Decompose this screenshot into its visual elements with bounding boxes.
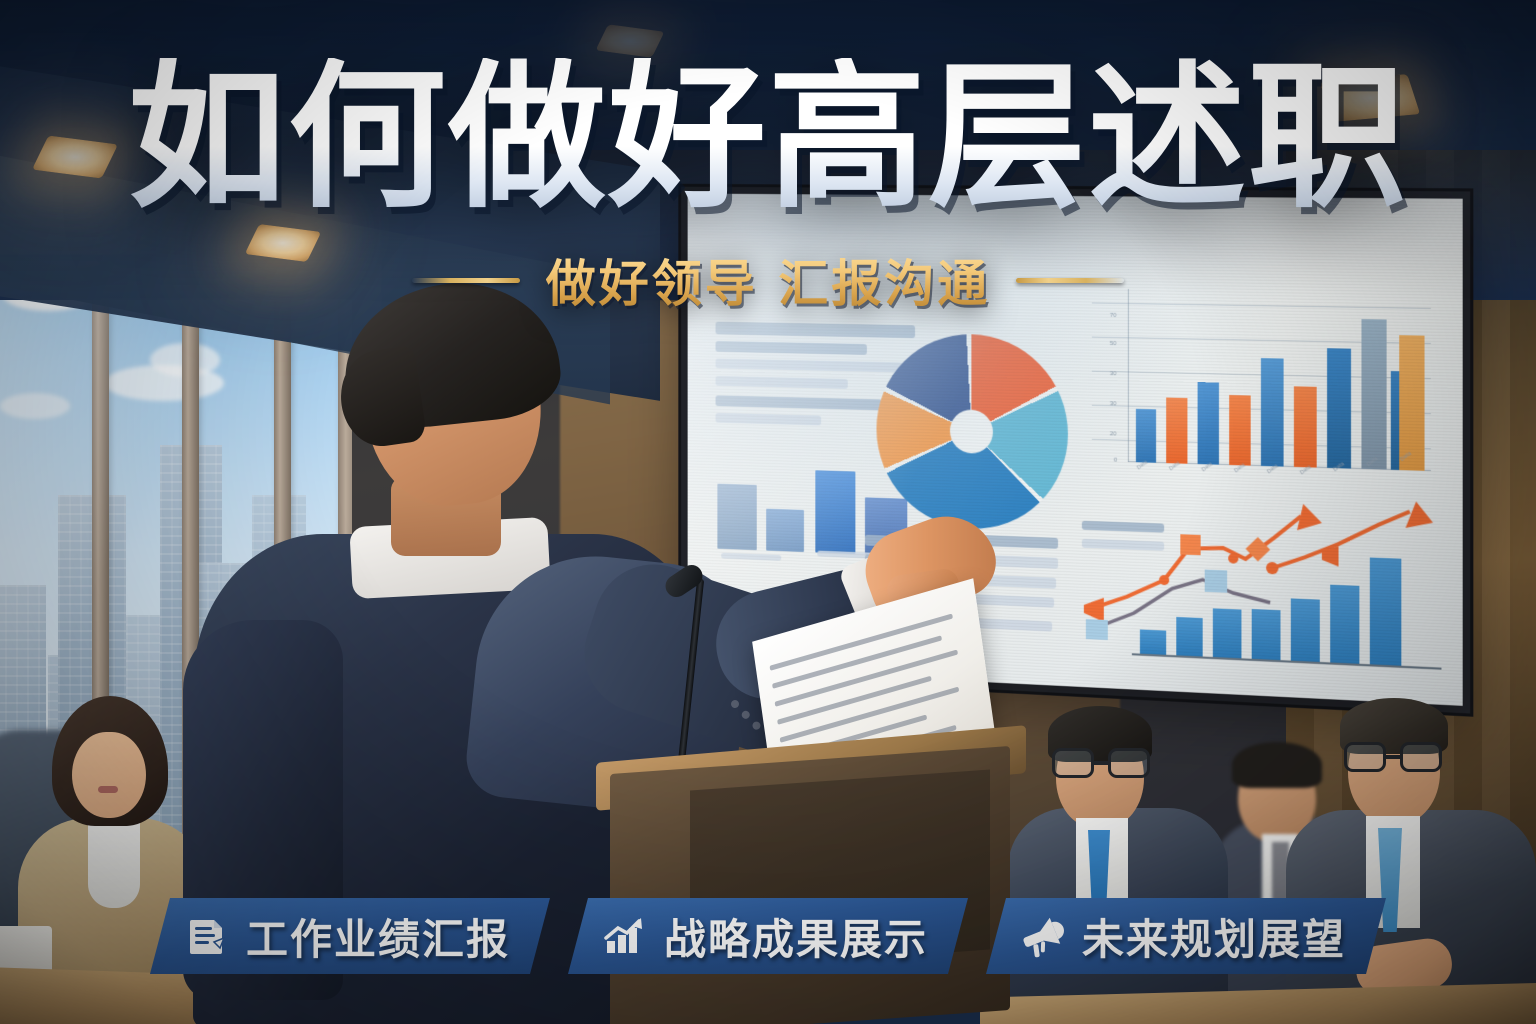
document-list-icon [184, 914, 228, 958]
data-point [1266, 562, 1278, 575]
bar [1327, 348, 1351, 468]
page-title: 如何做好高层述职 [128, 58, 1408, 219]
bar [1229, 395, 1250, 466]
poster-canvas: 0 20 30 30 50 70 Data Data Data Data Dat… [0, 0, 1536, 1024]
bar [1294, 386, 1317, 467]
bar [1399, 335, 1424, 471]
trend-lines-overlay [1072, 486, 1452, 684]
glasses-icon [1052, 748, 1156, 782]
title-area: 如何做好高层述职 [0, 58, 1536, 219]
y-tick-label: 30 [1110, 401, 1117, 407]
badge-row: 工作业绩汇报 战略成果展示 [0, 898, 1536, 974]
arrow-head-icon [1406, 501, 1433, 529]
page-subtitle: 做好领导 汇报沟通 [546, 244, 990, 316]
screen-pie-chart [876, 332, 1067, 532]
data-marker [1205, 570, 1227, 593]
glasses-icon [1344, 742, 1448, 776]
plot-area [1128, 289, 1431, 471]
bar [1361, 319, 1386, 470]
badge-label: 未来规划展望 [1082, 906, 1346, 967]
badge-label: 战略成果展示 [664, 906, 928, 967]
woman-shirt [88, 818, 140, 908]
bar [1198, 382, 1219, 465]
woman-face [72, 732, 146, 818]
bar [1261, 358, 1284, 467]
badge-future-outlook[interactable]: 未来规划展望 [986, 898, 1386, 974]
y-tick-label: 30 [1110, 371, 1117, 377]
executive-hair [1232, 742, 1322, 788]
data-marker [1180, 534, 1200, 555]
trend-line-grey [1092, 575, 1270, 637]
subtitle-dash-right [1016, 278, 1124, 283]
subtitle-dash-left [412, 278, 520, 283]
woman-lips [98, 786, 118, 793]
arrow-head-icon [1297, 504, 1322, 531]
text-placeholder-line [973, 618, 1052, 631]
badge-label: 工作业绩汇报 [246, 906, 510, 967]
badge-work-performance-report[interactable]: 工作业绩汇报 [150, 898, 550, 974]
megaphone-icon [1020, 914, 1064, 958]
badge-strategic-results[interactable]: 战略成果展示 [568, 898, 968, 974]
bar [815, 470, 855, 554]
text-placeholder-line [973, 594, 1054, 607]
y-tick-label: 0 [1114, 458, 1117, 464]
data-marker-chevron [1084, 597, 1104, 622]
screen-main-bar-chart: 0 20 30 30 50 70 Data Data Data Data Dat… [1092, 288, 1431, 499]
data-marker [1086, 619, 1108, 640]
y-tick-label: 20 [1110, 432, 1117, 438]
bar [1136, 409, 1156, 463]
screen-trend-bar-chart [1072, 486, 1452, 684]
pie-center-hole [950, 409, 993, 454]
cloud [0, 393, 70, 419]
chart-arrow-up-icon [602, 914, 646, 958]
subtitle-area: 做好领导 汇报沟通 [0, 244, 1536, 316]
y-tick-label: 50 [1110, 341, 1117, 347]
trend-line-orange-2 [1272, 507, 1410, 573]
bar [1166, 398, 1187, 464]
